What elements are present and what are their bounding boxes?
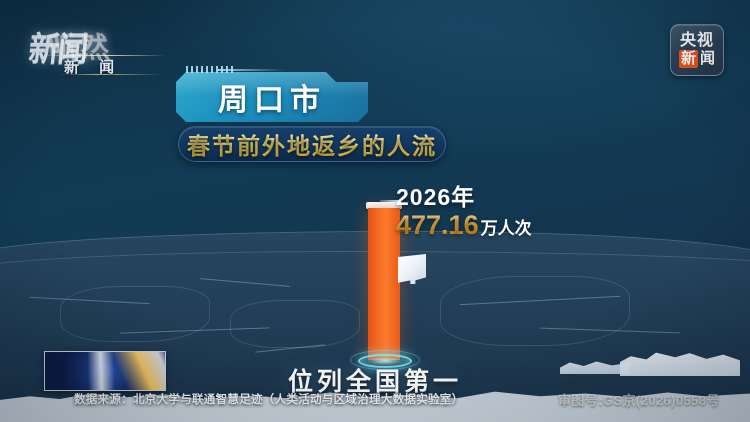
program-logo-subtitle: 新 闻 <box>64 56 122 77</box>
data-source-note: 数据来源：北京大学与联通智慧足迹（人类活动与区域治理大数据实验室） <box>74 391 463 407</box>
subtitle-text: 春节前外地返乡的人流 <box>187 127 437 161</box>
callout-value-row: 477.16 万人次 <box>396 211 532 241</box>
city-name: 周口市 <box>182 76 362 118</box>
network-badge-line2: 新 闻 <box>679 50 715 68</box>
location-marker-icon <box>398 254 426 284</box>
program-logo-overlay-glyphs: 听然 <box>45 25 112 67</box>
callout-unit: 万人次 <box>479 214 532 239</box>
banner-accent-line <box>218 69 286 71</box>
callout-value: 477.16 <box>396 211 479 241</box>
logo-rule-bottom <box>58 74 162 75</box>
data-callout: 2026年 477.16 万人次 <box>396 184 532 241</box>
logo-rule-top <box>40 55 166 56</box>
network-badge-line1: 央视 <box>680 33 714 49</box>
province-outline-1 <box>60 286 210 342</box>
broadcast-graphic: 新闻 听然 新 闻 央视 新 闻 周口市 春节前外地返乡的人流 2026年 47… <box>0 0 750 422</box>
callout-year: 2026年 <box>396 184 532 211</box>
station-bumper-thumbnail <box>44 351 166 391</box>
program-logo: 新闻 听然 新 闻 <box>24 24 176 82</box>
network-badge-rest: 闻 <box>698 51 715 66</box>
subtitle-banner: 春节前外地返乡的人流 <box>178 126 446 162</box>
network-badge-brand: 新 <box>679 50 698 68</box>
program-logo-glyphs: 新闻 <box>27 21 89 70</box>
map-approval-watermark: 审图号:GS京(2026)0558号 <box>558 390 720 409</box>
network-badge: 央视 新 闻 <box>670 24 724 76</box>
